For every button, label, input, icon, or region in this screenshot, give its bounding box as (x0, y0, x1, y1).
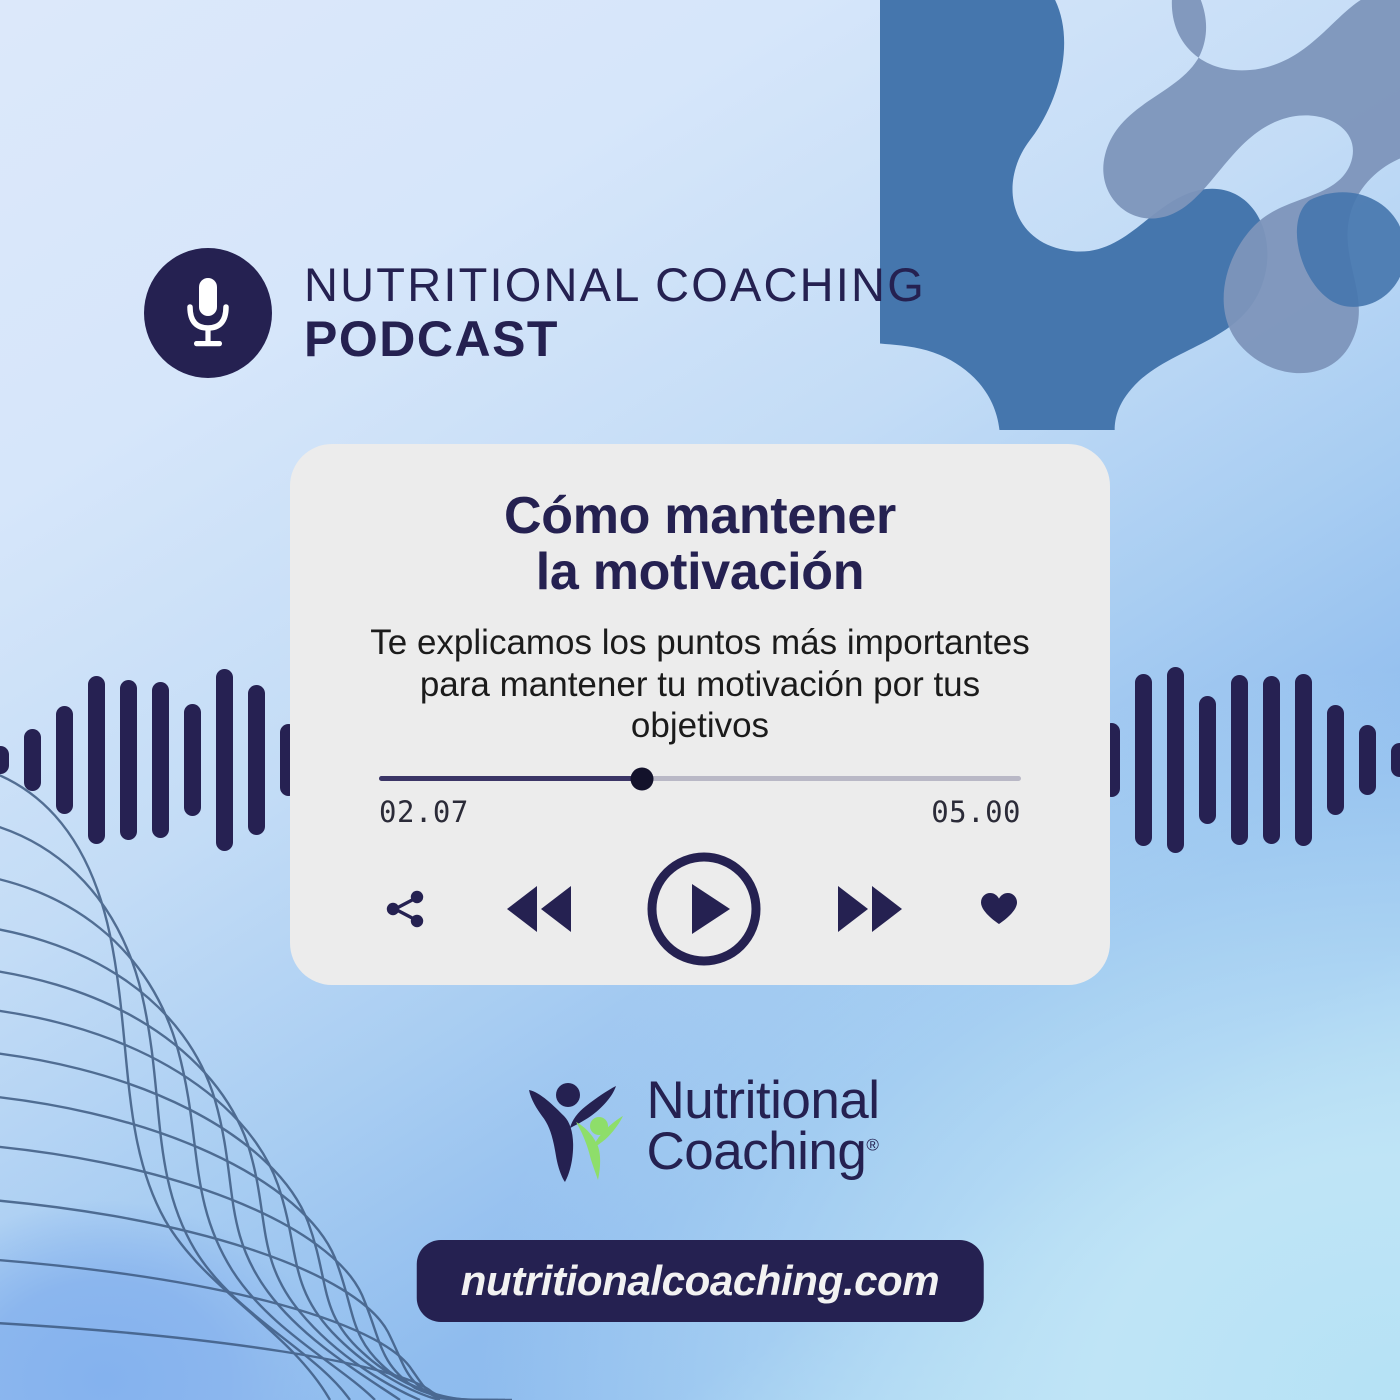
brand-line-1: NUTRITIONAL COACHING (304, 259, 926, 312)
episode-title-line-2: la motivación (504, 544, 896, 600)
logo-figures-icon (520, 1068, 640, 1186)
mic-badge (144, 248, 272, 378)
share-button[interactable] (379, 883, 431, 935)
heart-icon (977, 887, 1021, 931)
forward-icon (832, 878, 908, 940)
decorative-blob-shapes (880, 0, 1400, 430)
episode-title-line-1: Cómo mantener (504, 488, 896, 544)
logo-line-1: Nutritional (646, 1076, 879, 1127)
podcast-header: NUTRITIONAL COACHING PODCAST (144, 248, 926, 378)
episode-subtitle: Te explicamos los puntos más importantes… (370, 622, 1030, 746)
play-button[interactable] (646, 851, 762, 967)
podcast-promo-graphic: NUTRITIONAL COACHING PODCAST Cómo manten… (0, 0, 1400, 1400)
like-button[interactable] (977, 887, 1021, 931)
player-card: Cómo mantener la motivación Te explicamo… (290, 444, 1110, 985)
website-url-badge[interactable]: nutritionalcoaching.com (417, 1240, 984, 1322)
forward-button[interactable] (832, 878, 908, 940)
player-controls (379, 851, 1021, 967)
play-icon (646, 851, 762, 967)
episode-title: Cómo mantener la motivación (504, 488, 896, 600)
share-icon (379, 883, 431, 935)
logo-trademark: ® (866, 1135, 878, 1154)
progress-section: 02.07 05.00 (379, 776, 1021, 829)
rewind-icon (501, 878, 577, 940)
total-time: 05.00 (931, 795, 1021, 829)
logo-line-2: Coaching® (646, 1127, 879, 1178)
waveform-left (0, 660, 297, 860)
progress-thumb[interactable] (631, 767, 654, 790)
progress-fill (379, 776, 642, 781)
microphone-icon (178, 274, 238, 352)
brand-logo: Nutritional Coaching® (0, 1068, 1400, 1186)
rewind-button[interactable] (501, 878, 577, 940)
logo-wordmark: Nutritional Coaching® (646, 1076, 879, 1178)
time-row: 02.07 05.00 (379, 795, 1021, 829)
waveform-right (1103, 660, 1400, 860)
elapsed-time: 02.07 (379, 795, 469, 829)
progress-track[interactable] (379, 776, 1021, 781)
brand-line-2: PODCAST (304, 311, 926, 367)
